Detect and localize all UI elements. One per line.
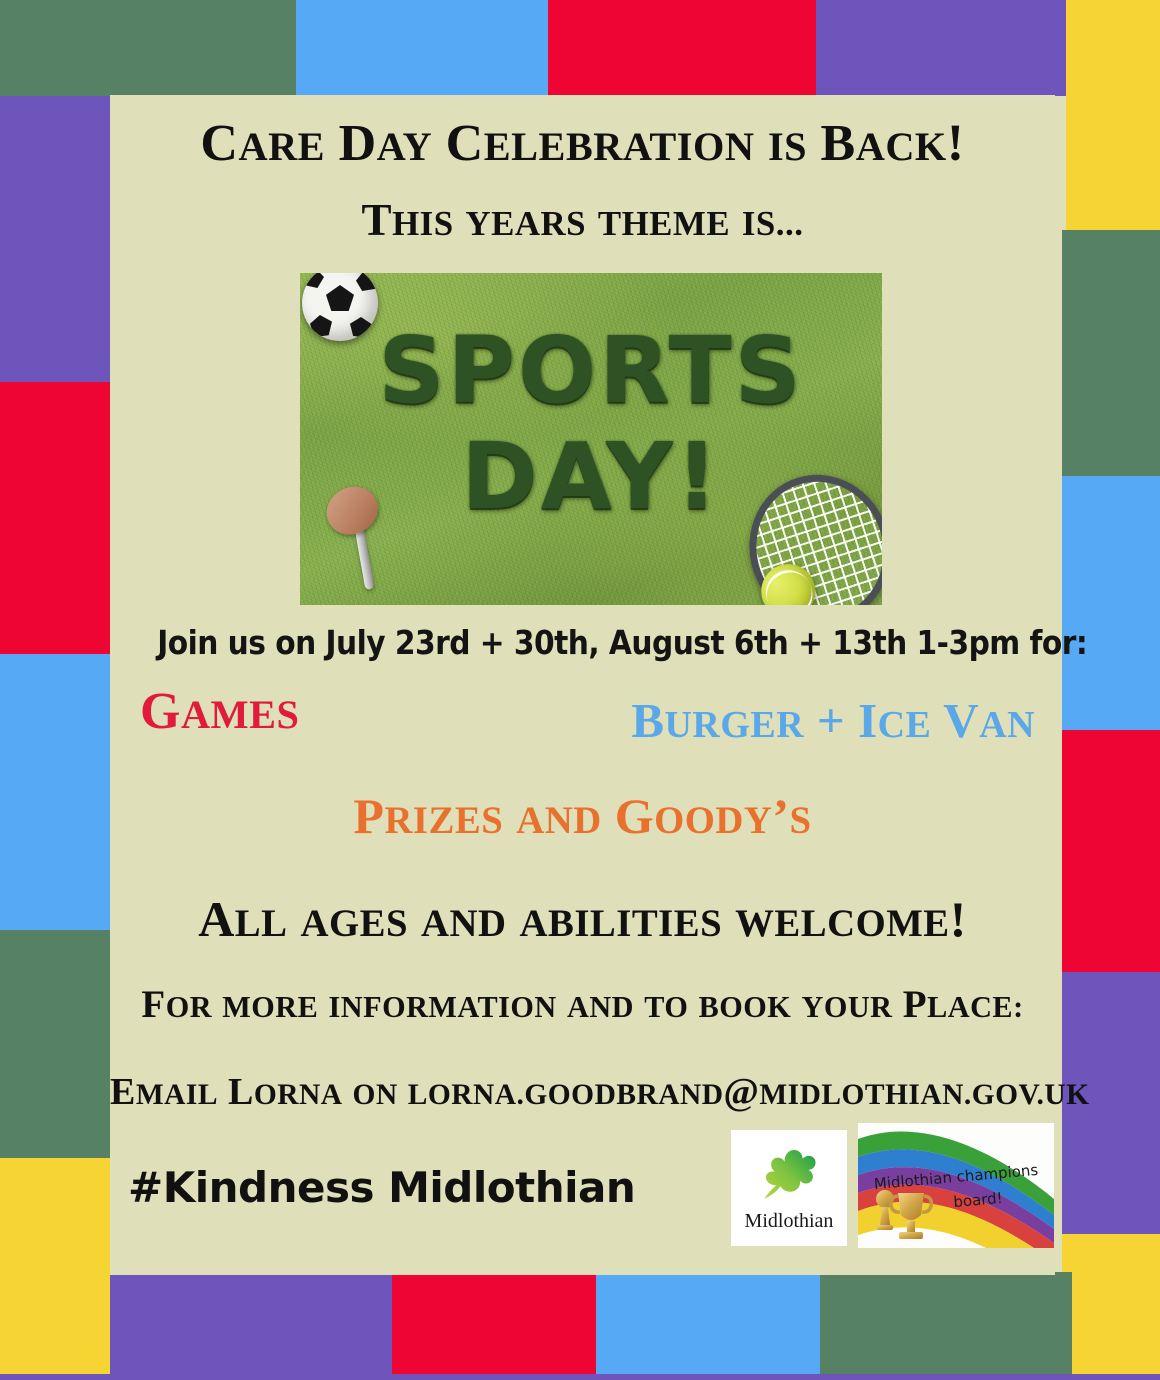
oak-leaf-icon [758,1142,820,1204]
feature-burger-ice-van: BURGER + ICE VAN [631,695,1035,746]
border-block-purple [0,96,110,382]
border-block-green [0,930,110,1158]
border-block-yellow [1066,0,1160,230]
soccer-ball-icon [302,273,378,341]
border-block-green [0,0,296,96]
border-block-blue [596,1272,820,1374]
border-block-purple [816,0,1066,96]
border-block-red [1062,730,1160,972]
border-block-blue [0,654,110,930]
midlothian-council-logo: Midlothian [731,1130,847,1246]
contact-email-line[interactable]: EMAIL LORNA ON LORNA.GOODBRAND@MIDLOTHIA… [110,1073,1055,1113]
midlothian-logo-text: Midlothian [731,1210,847,1233]
border-block-purple [110,1272,392,1374]
care-day-poster: CARE DAY CELEBRATION IS BACK! THIS YEARS… [0,0,1160,1380]
feature-games: GAMES [140,685,299,740]
poster-headline-line2: THIS YEARS THEME IS... [110,197,1055,244]
poster-content-area: CARE DAY CELEBRATION IS BACK! THIS YEARS… [110,95,1055,1275]
sports-day-photo: SPORTS DAY! [300,273,882,605]
border-block-yellow [0,1158,110,1380]
border-block-green [820,1272,1072,1374]
border-block-green [1062,230,1160,476]
border-block-yellow [1062,1234,1160,1380]
event-dates-line: Join us on July 23rd + 30th, August 6th … [157,623,1008,662]
more-information-line: FOR MORE INFORMATION AND TO BOOK YOUR PL… [110,985,1055,1026]
border-block-red [548,0,816,96]
border-block-blue [1062,476,1160,730]
trophy-icon [872,1185,934,1243]
border-block-red [392,1272,596,1374]
kindness-hashtag: #Kindness Midlothian [128,1163,635,1212]
border-block-red [0,382,110,654]
poster-headline-line1: CARE DAY CELEBRATION IS BACK! [110,117,1055,172]
feature-prizes-goodys: PRIZES AND GOODY’S [110,790,1055,843]
all-ages-welcome-line: ALL AGES AND ABILITIES WELCOME! [110,893,1055,946]
midlothian-champions-board-logo: Midlothian champions board! [858,1123,1054,1248]
border-block-blue [296,0,548,96]
grass-text-sports: SPORTS [300,325,882,417]
border-strip-purple [0,1374,1160,1380]
